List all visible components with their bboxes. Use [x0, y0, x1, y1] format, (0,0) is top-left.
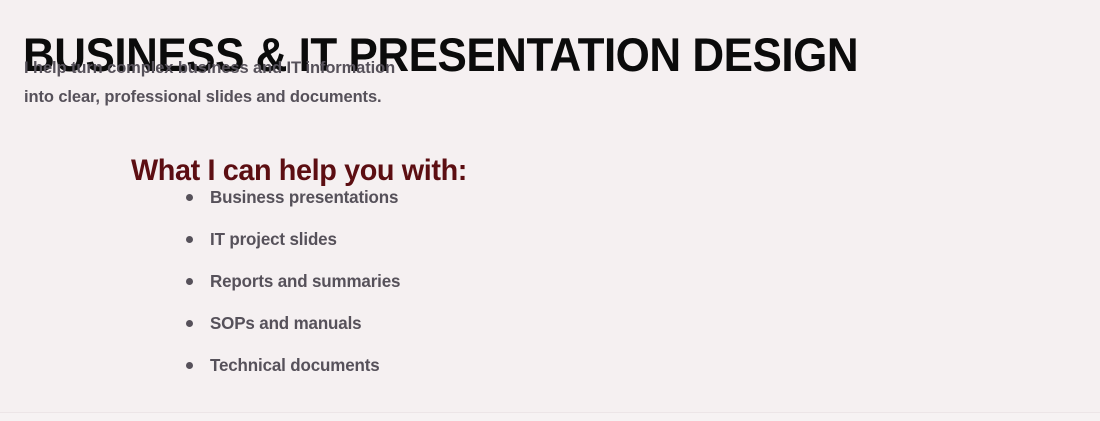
- list-item: Business presentations: [184, 176, 406, 218]
- profile-intro-panel: BUSINESS & IT PRESENTATION DESIGN I help…: [0, 0, 1100, 421]
- bullet-dot-icon: [186, 320, 193, 327]
- list-item-label: Business presentations: [210, 187, 398, 207]
- bullet-dot-icon: [186, 236, 193, 243]
- list-item-label: Technical documents: [210, 355, 380, 375]
- bullet-dot-icon: [186, 278, 193, 285]
- page-subtitle: I help turn complex business and IT info…: [24, 53, 395, 111]
- bullet-dot-icon: [186, 194, 193, 201]
- list-item: IT project slides: [184, 218, 406, 260]
- list-item-label: SOPs and manuals: [210, 313, 361, 333]
- bottom-strip: [0, 413, 1100, 421]
- list-item-label: Reports and summaries: [210, 271, 400, 291]
- subtitle-line-1: I help turn complex business and IT info…: [24, 53, 395, 82]
- list-item: SOPs and manuals: [184, 302, 406, 344]
- list-item-label: IT project slides: [210, 229, 337, 249]
- bottom-divider: [0, 412, 1100, 413]
- list-item: Technical documents: [184, 344, 406, 386]
- subtitle-line-2: into clear, professional slides and docu…: [24, 82, 395, 111]
- help-topics-list: Business presentations IT project slides…: [184, 176, 406, 386]
- bullet-dot-icon: [186, 362, 193, 369]
- list-item: Reports and summaries: [184, 260, 406, 302]
